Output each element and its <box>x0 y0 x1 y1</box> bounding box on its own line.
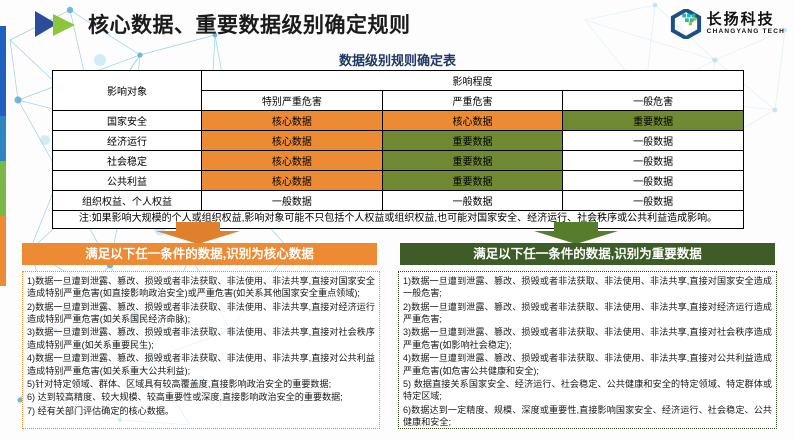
core-data-rules-panel: 1)数据一旦遭到泄露、篡改、损毁或者非法获取、非法使用、非法共享,直接对国家安全… <box>22 271 380 429</box>
brand-name-cn: 长扬科技 <box>707 12 785 27</box>
rule-item: 1)数据一旦遭到泄露、篡改、损毁或者非法获取、非法使用、非法共享,直接对国家安全… <box>403 275 772 300</box>
header-col-1: 严重危害 <box>382 91 563 111</box>
table-row: 社会稳定核心数据重要数据一般数据 <box>53 151 744 171</box>
table-row: 公共利益核心数据重要数据一般数据 <box>53 171 744 191</box>
row-label: 公共利益 <box>53 171 202 191</box>
rule-item: 4)数据一旦遭到泄露、篡改、损毁或者非法获取、非法使用、非法共享,直接对公共利益… <box>403 352 772 377</box>
cell-imp: 重要数据 <box>563 111 744 131</box>
header-row-label: 影响对象 <box>53 71 202 111</box>
core-data-banner: 满足以下任一条件的数据,识别为核心数据 <box>22 243 377 265</box>
table-header-row-group: 影响对象 影响程度 <box>53 71 744 91</box>
brand-logo: 长扬科技 CHANGYANG TECH <box>670 8 785 40</box>
rule-item: 6) 达到较高精度、较大规模、较高重要性或深度,直接影响政治安全的重要数据; <box>27 391 375 403</box>
cell-core: 核心数据 <box>202 111 383 131</box>
slide-canvas: 核心数据、重要数据级别确定规则 长扬科技 CHANGYANG TECH 数据 <box>0 0 795 440</box>
table-body: 国家安全核心数据核心数据重要数据经济运行核心数据重要数据一般数据社会稳定核心数据… <box>53 111 744 211</box>
cell-gen: 一般数据 <box>563 191 744 211</box>
slide-header: 核心数据、重要数据级别确定规则 长扬科技 CHANGYANG TECH <box>0 0 795 46</box>
cell-core: 核心数据 <box>202 151 383 171</box>
down-arrow-important-icon <box>530 222 622 244</box>
cell-core: 核心数据 <box>202 131 383 151</box>
important-data-banner: 满足以下任一条件的数据,识别为重要数据 <box>400 243 775 265</box>
table-row: 组织权益、个人权益一般数据一般数据一般数据 <box>53 191 744 211</box>
header-col-group: 影响程度 <box>202 71 744 91</box>
cell-imp: 重要数据 <box>382 171 563 191</box>
cell-gen: 一般数据 <box>382 191 563 211</box>
cell-gen: 一般数据 <box>563 151 744 171</box>
row-label: 组织权益、个人权益 <box>53 191 202 211</box>
core-banner-label: 满足以下任一条件的数据,识别为核心数据 <box>85 247 313 261</box>
important-banner-label: 满足以下任一条件的数据,识别为重要数据 <box>473 247 701 261</box>
play-triangle-logo-icon <box>33 10 77 38</box>
cell-gen: 一般数据 <box>563 171 744 191</box>
table-head: 影响对象 影响程度 特别严重危害 严重危害 一般危害 <box>53 71 744 111</box>
rule-item: 5)针对特定领域、群体、区域具有较高覆盖度,直接影响政治安全的重要数据; <box>27 378 375 390</box>
important-data-rules-panel: 1)数据一旦遭到泄露、篡改、损毁或者非法获取、非法使用、非法共享,直接对国家安全… <box>398 271 777 429</box>
rule-item: 2)数据一旦遭到泄露、篡改、损毁或者非法获取、非法使用、非法共享,直接对经济运行… <box>403 301 772 326</box>
page-title: 核心数据、重要数据级别确定规则 <box>88 9 411 39</box>
cell-gen: 一般数据 <box>202 191 383 211</box>
hexagon-c-logo-icon <box>670 9 702 39</box>
header-col-2: 一般危害 <box>563 91 744 111</box>
row-label: 经济运行 <box>53 131 202 151</box>
brand-name-en: CHANGYANG TECH <box>707 29 785 36</box>
cell-imp: 重要数据 <box>382 151 563 171</box>
rule-item: 6)数据达到一定精度、规模、深度或重要性,直接影响国家安全、经济运行、社会稳定、… <box>403 404 772 429</box>
table-row: 国家安全核心数据核心数据重要数据 <box>53 111 744 131</box>
header-col-0: 特别严重危害 <box>202 91 383 111</box>
rule-item: 3)数据一旦遭到泄露、篡改、损毁或者非法获取、非法使用、非法共享,直接对社会秩序… <box>27 326 375 351</box>
row-label: 社会稳定 <box>53 151 202 171</box>
cell-gen: 一般数据 <box>563 131 744 151</box>
cell-core: 核心数据 <box>382 111 563 131</box>
rule-item: 3)数据一旦遭到泄露、篡改、损毁或者非法获取、非法使用、非法共享,直接对社会秩序… <box>403 326 772 351</box>
down-arrow-core-icon <box>152 222 244 244</box>
cell-imp: 重要数据 <box>382 131 563 151</box>
cell-core: 核心数据 <box>202 171 383 191</box>
rule-item: 5) 数据直接关系国家安全、经济运行、社会稳定、公共健康和安全的特定领域、特定群… <box>403 378 772 403</box>
rule-item: 1)数据一旦遭到泄露、篡改、损毁或者非法获取、非法使用、非法共享,直接对国家安全… <box>27 275 375 300</box>
table-row: 经济运行核心数据重要数据一般数据 <box>53 131 744 151</box>
row-label: 国家安全 <box>53 111 202 131</box>
rule-item: 4)数据一旦遭到泄露、篡改、损毁或者非法获取、非法使用、非法共享,直接对公共利益… <box>27 352 375 377</box>
table-caption: 数据级别规则确定表 <box>0 50 795 69</box>
rule-item: 2)数据一旦遭到泄露、篡改、损毁或者非法获取、非法使用、非法共享,直接对经济运行… <box>27 301 375 326</box>
data-level-rules-table: 影响对象 影响程度 特别严重危害 严重危害 一般危害 国家安全核心数据核心数据重… <box>52 70 744 229</box>
rule-item: 7) 经有关部门评估确定的核心数据。 <box>27 405 375 417</box>
